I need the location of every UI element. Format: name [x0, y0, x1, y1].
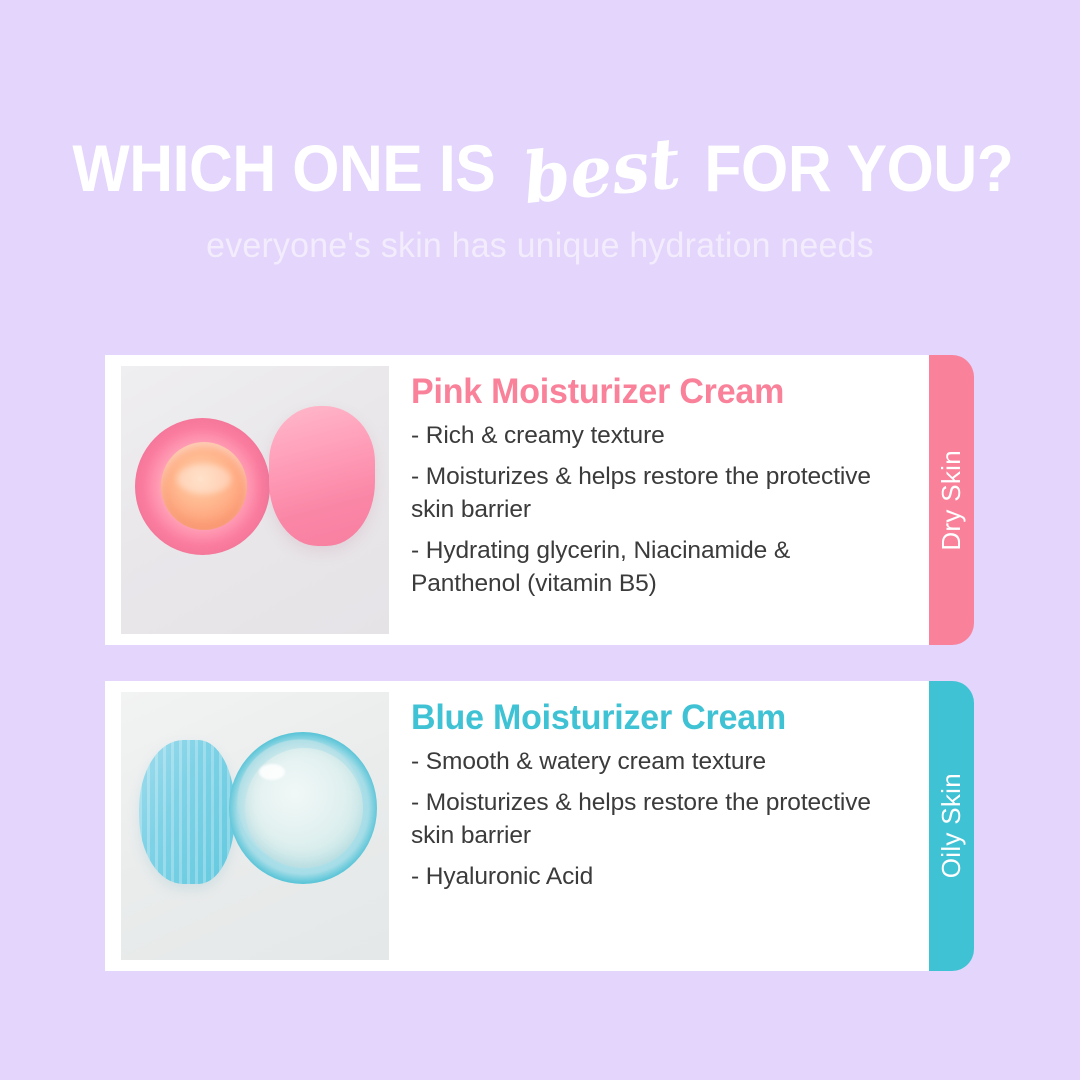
card-body-blue: Blue Moisturizer Cream - Smooth & watery… — [389, 681, 930, 903]
poster-canvas: WHICH ONE IS best FOR YOU? everyone's sk… — [0, 0, 1080, 1080]
cream-surface-pink — [161, 442, 247, 530]
product-card-pink[interactable]: Pink Moisturizer Cream - Rich & creamy t… — [105, 355, 930, 645]
feature-list-pink: - Rich & creamy texture - Moisturizes & … — [411, 420, 896, 601]
card-body-pink: Pink Moisturizer Cream - Rich & creamy t… — [389, 355, 930, 609]
title-part-one: WHICH ONE IS — [72, 135, 495, 201]
title-script-word: best — [515, 127, 690, 214]
skin-type-tab-dry[interactable]: Dry Skin — [929, 355, 974, 645]
list-item: - Hydrating glycerin, Niacinamide & Pant… — [411, 535, 896, 600]
list-item: - Moisturizes & helps restore the protec… — [411, 787, 896, 852]
product-title-blue: Blue Moisturizer Cream — [411, 699, 881, 738]
feature-list-blue: - Smooth & watery cream texture - Moistu… — [411, 746, 896, 894]
product-title-pink: Pink Moisturizer Cream — [411, 373, 881, 412]
list-item: - Hyaluronic Acid — [411, 861, 896, 894]
header: WHICH ONE IS best FOR YOU? everyone's sk… — [0, 132, 1080, 266]
product-card-blue[interactable]: Blue Moisturizer Cream - Smooth & watery… — [105, 681, 930, 971]
list-item: - Moisturizes & helps restore the protec… — [411, 461, 896, 526]
skin-type-tab-oily[interactable]: Oily Skin — [929, 681, 974, 971]
cream-surface-blue — [245, 748, 363, 868]
skin-type-tab-label: Dry Skin — [936, 450, 967, 551]
page-subtitle: everyone's skin has unique hydration nee… — [16, 226, 1064, 266]
skin-type-tab-label: Oily Skin — [936, 773, 967, 878]
list-item: - Smooth & watery cream texture — [411, 746, 896, 779]
product-image-blue — [121, 692, 389, 960]
list-item: - Rich & creamy texture — [411, 420, 896, 453]
page-title: WHICH ONE IS best FOR YOU? — [0, 132, 1080, 202]
product-image-pink — [121, 366, 389, 634]
title-part-two: FOR YOU? — [704, 135, 1013, 201]
